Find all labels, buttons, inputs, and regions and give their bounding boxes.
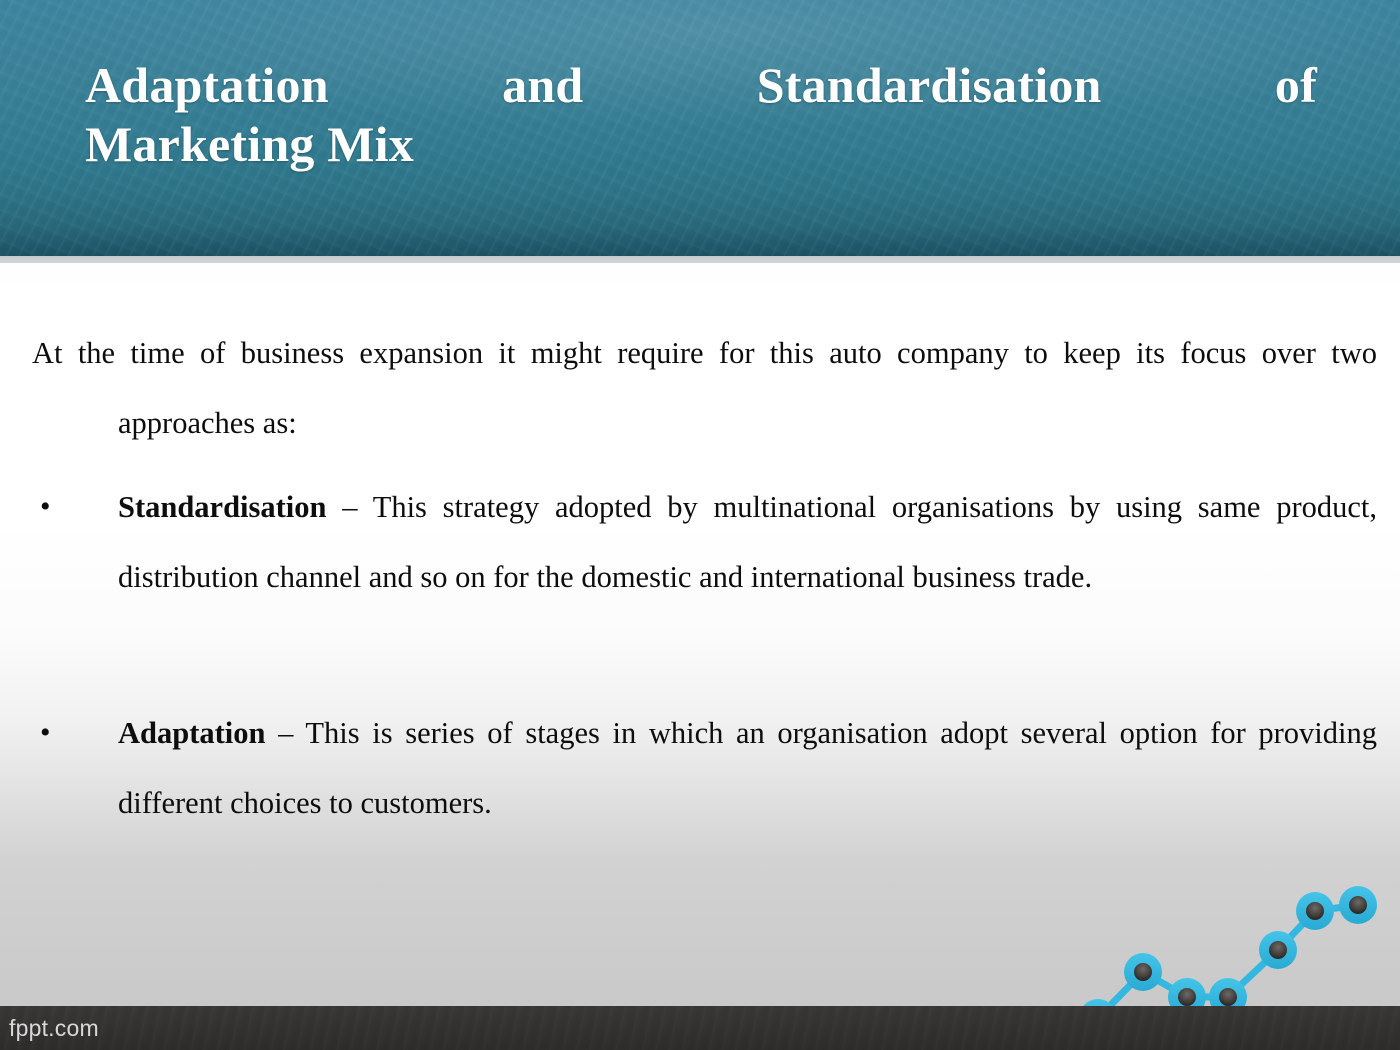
intro-paragraph: At the time of business expansion it mig… [32,318,1377,458]
bullet-text: This is series of stages in which an org… [118,716,1377,820]
bullet-separator: – [326,490,372,524]
bullet-marker-icon: • [40,698,60,768]
bullet-separator: – [265,716,305,750]
footer-brand-label: fppt.com [9,1015,99,1042]
slide-title: Adaptation and Standardisation of Market… [85,56,1317,174]
slide-title-line-1: Adaptation and Standardisation of [85,56,1317,115]
slide-title-line-2: Marketing Mix [85,115,1317,174]
list-item: • Standardisation – This strategy adopte… [32,472,1377,612]
slide-body: At the time of business expansion it mig… [0,263,1400,1006]
presentation-slide: Adaptation and Standardisation of Market… [0,0,1400,1050]
bullet-term: Standardisation [118,490,326,524]
list-item: • Adaptation – This is series of stages … [32,698,1377,838]
bullet-term: Adaptation [118,716,265,750]
footer-texture-overlay [0,1006,1400,1050]
header-divider [0,256,1400,263]
bullet-marker-icon: • [40,472,60,542]
footer-bar: fppt.com [0,1006,1400,1050]
